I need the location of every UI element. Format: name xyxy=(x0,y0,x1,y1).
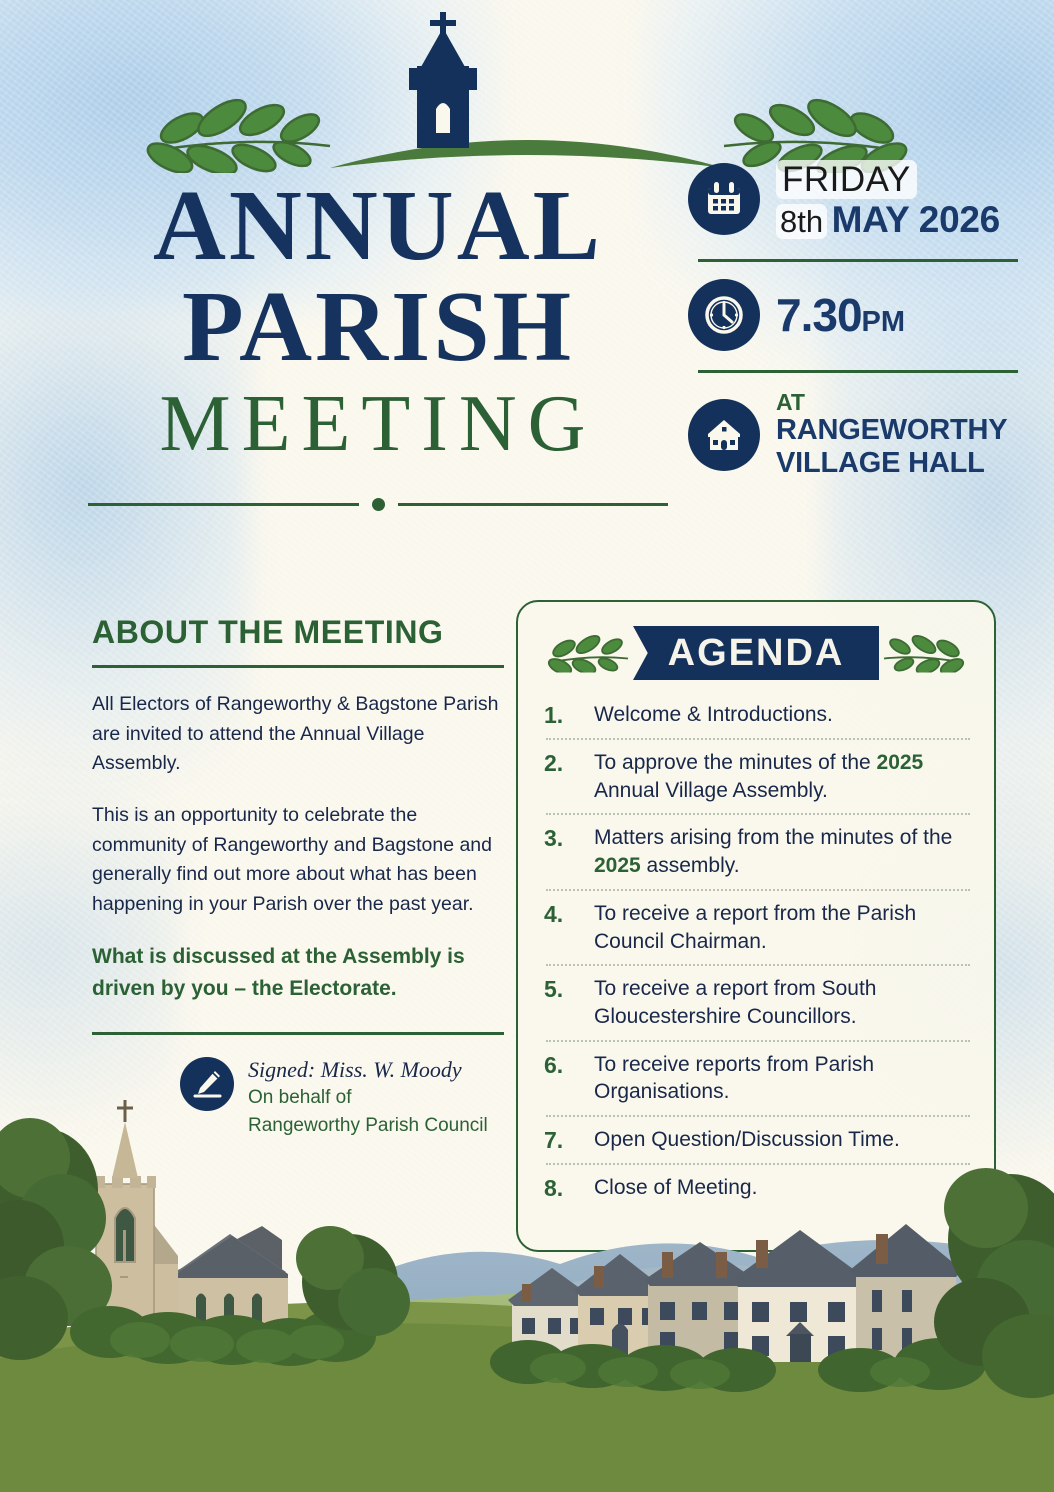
leaf-sprig-left-icon xyxy=(542,629,634,678)
agenda-item-text: To receive a report from the Parish Coun… xyxy=(594,900,972,955)
venue-name-line2: VILLAGE HALL xyxy=(776,447,1007,479)
date-ordinal: 8th xyxy=(776,204,827,239)
poster-root: ANNUAL PARISH MEETING xyxy=(0,0,1054,1492)
agenda-item-text: Welcome & Introductions. xyxy=(594,701,833,729)
venue-name-line1: RANGEWORTHY xyxy=(776,414,1007,446)
agenda-item-number: 3. xyxy=(544,824,578,879)
title-line-parish: PARISH xyxy=(88,277,668,376)
detail-row-venue: AT RANGEWORTHY VILLAGE HALL xyxy=(688,390,1018,479)
clock-icon xyxy=(688,279,760,351)
agenda-item: 5.To receive a report from South Glouces… xyxy=(544,966,972,1039)
agenda-item: 1.Welcome & Introductions. xyxy=(544,692,972,738)
agenda-year-highlight: 2025 xyxy=(594,854,641,877)
agenda-item-text: To approve the minutes of the 2025 Annua… xyxy=(594,749,972,804)
detail-separator-1 xyxy=(698,259,1018,262)
about-emphasis: What is discussed at the Assembly is dri… xyxy=(92,941,504,1004)
agenda-item-number: 2. xyxy=(544,749,578,804)
agenda-title: AGENDA xyxy=(668,632,845,675)
time-value: 7.30 xyxy=(776,289,862,341)
about-paragraph-2: This is an opportunity to celebrate the … xyxy=(92,801,504,920)
agenda-year-highlight: 2025 xyxy=(877,751,924,774)
agenda-item-number: 5. xyxy=(544,975,578,1030)
leaf-sprig-right-icon xyxy=(878,629,970,678)
poster-title-block: ANNUAL PARISH MEETING xyxy=(88,176,668,511)
church-laurel-ornament xyxy=(0,8,1054,173)
agenda-item-number: 4. xyxy=(544,900,578,955)
agenda-header: AGENDA xyxy=(518,616,994,690)
detail-separator-2 xyxy=(698,370,1018,373)
date-month-year: MAY 2026 xyxy=(832,199,1000,240)
title-line-meeting: MEETING xyxy=(88,384,668,464)
agenda-item-text: To receive a report from South Glouceste… xyxy=(594,975,972,1030)
calendar-icon xyxy=(688,163,760,235)
time-meridiem: PM xyxy=(862,306,906,338)
title-divider xyxy=(88,498,668,511)
venue-preposition: AT xyxy=(776,390,1007,414)
date-day-name: FRIDAY xyxy=(776,160,917,199)
divider-dot xyxy=(372,498,385,511)
title-line-annual: ANNUAL xyxy=(88,176,668,275)
agenda-item-number: 1. xyxy=(544,701,578,729)
detail-row-date: FRIDAY 8th MAY 2026 xyxy=(688,158,1018,240)
event-details-block: FRIDAY 8th MAY 2026 xyxy=(688,158,1018,479)
agenda-item: 3.Matters arising from the minutes of th… xyxy=(544,815,972,888)
agenda-item: 4.To receive a report from the Parish Co… xyxy=(544,891,972,964)
about-heading: ABOUT THE MEETING xyxy=(92,614,504,651)
about-bottom-rule xyxy=(92,1032,504,1035)
about-heading-rule xyxy=(92,665,504,668)
agenda-item: 2.To approve the minutes of the 2025 Ann… xyxy=(544,740,972,813)
about-paragraph-1: All Electors of Rangeworthy & Bagstone P… xyxy=(92,690,504,779)
village-church-landscape-illustration xyxy=(0,1040,1054,1492)
village-hall-icon xyxy=(688,399,760,471)
agenda-item-text: Matters arising from the minutes of the … xyxy=(594,824,972,879)
agenda-ribbon: AGENDA xyxy=(633,626,879,680)
detail-row-time: 7.30PM xyxy=(688,279,1018,351)
